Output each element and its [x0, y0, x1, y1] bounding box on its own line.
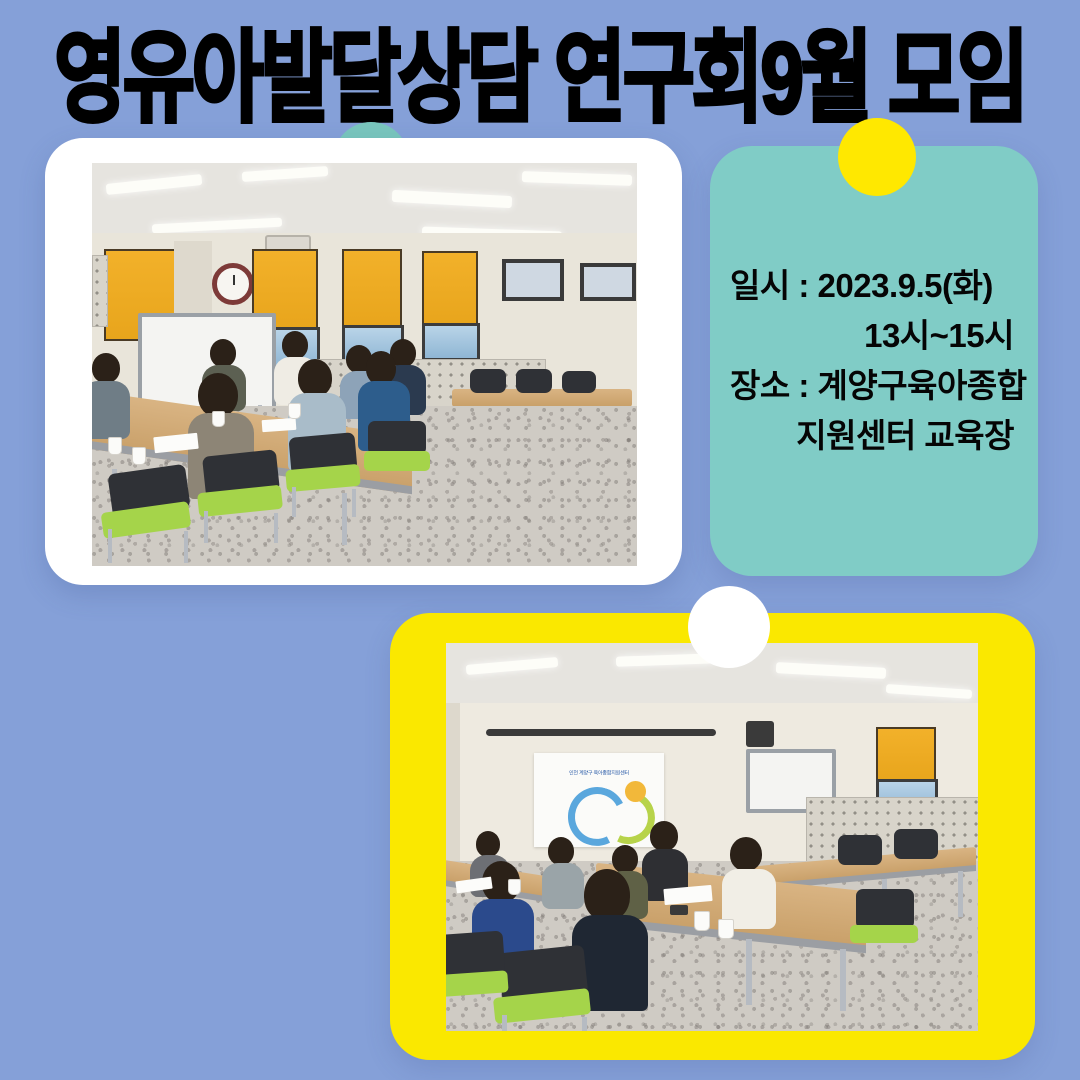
event-info-panel: 일시 : 2023.9.5(화) 13시~15시 장소 : 계양구육아종합 지원…	[710, 146, 1038, 576]
info-line-time: 13시~15시	[724, 311, 1024, 361]
info-line-venue: 장소 : 계양구육아종합	[724, 361, 1024, 411]
poster-canvas: 영유아발달상담 연구회9월 모임	[0, 0, 1080, 1080]
yellow-circle-decoration	[838, 118, 916, 196]
top-photo-card	[45, 138, 682, 585]
bottom-photo-image: 인천 계양구 육아종합지원센터	[446, 643, 978, 1031]
bottom-photo-card: 인천 계양구 육아종합지원센터	[390, 613, 1035, 1060]
page-title: 영유아발달상담 연구회9월 모임	[0, 17, 1080, 140]
banner-title: 인천 계양구 육아종합지원센터	[544, 769, 655, 777]
info-line-date: 일시 : 2023.9.5(화)	[724, 261, 1024, 311]
top-photo-image	[92, 163, 637, 566]
info-line-venue-cont: 지원센터 교육장	[724, 411, 1024, 461]
white-circle-decoration	[688, 586, 770, 668]
